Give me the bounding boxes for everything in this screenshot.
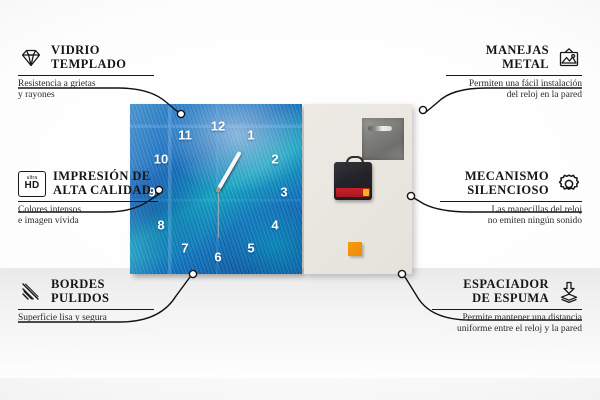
callout-title: MANEJAS METAL <box>486 44 549 71</box>
clock-numeral-2: 2 <box>271 153 278 166</box>
callout-title: VIDRIO TEMPLADO <box>51 44 126 71</box>
battery-compartment-label <box>336 188 370 197</box>
callout-head: MECANISMO SILENCIOSO <box>440 170 582 197</box>
callout-head: BORDES PULIDOS <box>18 278 154 305</box>
callout-divider <box>18 75 154 76</box>
quartz-mechanism-box <box>334 162 372 200</box>
polished-edges-icon <box>18 280 44 304</box>
callout-subtitle: Colores intensos e imagen vívida <box>18 205 158 227</box>
clock-back-panel <box>304 104 412 274</box>
foam-spacer-icon <box>556 280 582 304</box>
hanger-keyhole-slot <box>368 126 392 131</box>
mechanism-hanging-loop <box>346 156 364 167</box>
callout-divider <box>18 309 154 310</box>
callout-head: VIDRIO TEMPLADO <box>18 44 154 71</box>
callout-head: ESPACIADOR DE ESPUMA <box>432 278 582 305</box>
product-images: 12 1 2 3 4 5 6 7 8 9 10 11 <box>130 104 412 274</box>
battery-plus-marker <box>363 189 369 196</box>
clock-numeral-11: 11 <box>178 129 192 142</box>
callout-title: ESPACIADOR DE ESPUMA <box>463 278 549 305</box>
clock-numeral-3: 3 <box>280 186 287 199</box>
callout-divider <box>432 309 582 310</box>
callout-subtitle: Las manecillas del reloj no emiten ningú… <box>440 205 582 227</box>
callout-mecanismo-silencioso[interactable]: MECANISMO SILENCIOSO Las manecillas del … <box>440 170 582 227</box>
callout-title: MECANISMO SILENCIOSO <box>465 170 549 197</box>
callout-impresion-alta-calidad[interactable]: ultra HD IMPRESIÓN DE ALTA CALIDAD Color… <box>18 170 158 227</box>
callout-divider <box>440 201 582 202</box>
ultra-hd-badge-icon: ultra HD <box>18 171 46 197</box>
clock-numeral-6: 6 <box>214 251 221 264</box>
callout-subtitle: Superficie lisa y segura <box>18 313 154 324</box>
callout-espaciador-espuma[interactable]: ESPACIADOR DE ESPUMA Permite mantener un… <box>432 278 582 335</box>
foam-spacer-pad <box>348 242 362 256</box>
clock-numeral-10: 10 <box>154 153 168 166</box>
clock-numeral-12: 12 <box>211 120 225 133</box>
callout-manejas-metal[interactable]: MANEJAS METAL Permiten una fácil instala… <box>446 44 582 101</box>
hd-label: HD <box>24 181 39 191</box>
callout-head: ultra HD IMPRESIÓN DE ALTA CALIDAD <box>18 170 158 197</box>
clock-numeral-1: 1 <box>247 129 254 142</box>
callout-subtitle: Permiten una fácil instalación del reloj… <box>446 79 582 101</box>
callout-title: BORDES PULIDOS <box>51 278 109 305</box>
callout-head: MANEJAS METAL <box>446 44 582 71</box>
clock-numeral-5: 5 <box>247 242 254 255</box>
clock-numeral-7: 7 <box>181 242 188 255</box>
callout-vidrio-templado[interactable]: VIDRIO TEMPLADO Resistencia a grietas y … <box>18 44 154 101</box>
clock-numeral-4: 4 <box>271 219 278 232</box>
callout-subtitle: Permite mantener una distancia uniforme … <box>432 313 582 335</box>
callout-divider <box>18 201 158 202</box>
clock-second-hand <box>217 190 218 238</box>
callout-divider <box>446 75 582 76</box>
clock-center-hub <box>216 188 221 193</box>
metal-hanger-plate <box>362 118 404 160</box>
picture-hanger-icon <box>556 46 582 70</box>
infographic-canvas: 12 1 2 3 4 5 6 7 8 9 10 11 <box>0 0 600 400</box>
clock-numeral-8: 8 <box>157 219 164 232</box>
gear-icon <box>556 172 582 196</box>
callout-bordes-pulidos[interactable]: BORDES PULIDOS Superficie lisa y segura <box>18 278 154 324</box>
callout-title: IMPRESIÓN DE ALTA CALIDAD <box>53 170 151 197</box>
callout-subtitle: Resistencia a grietas y rayones <box>18 79 154 101</box>
diamond-icon <box>18 46 44 70</box>
